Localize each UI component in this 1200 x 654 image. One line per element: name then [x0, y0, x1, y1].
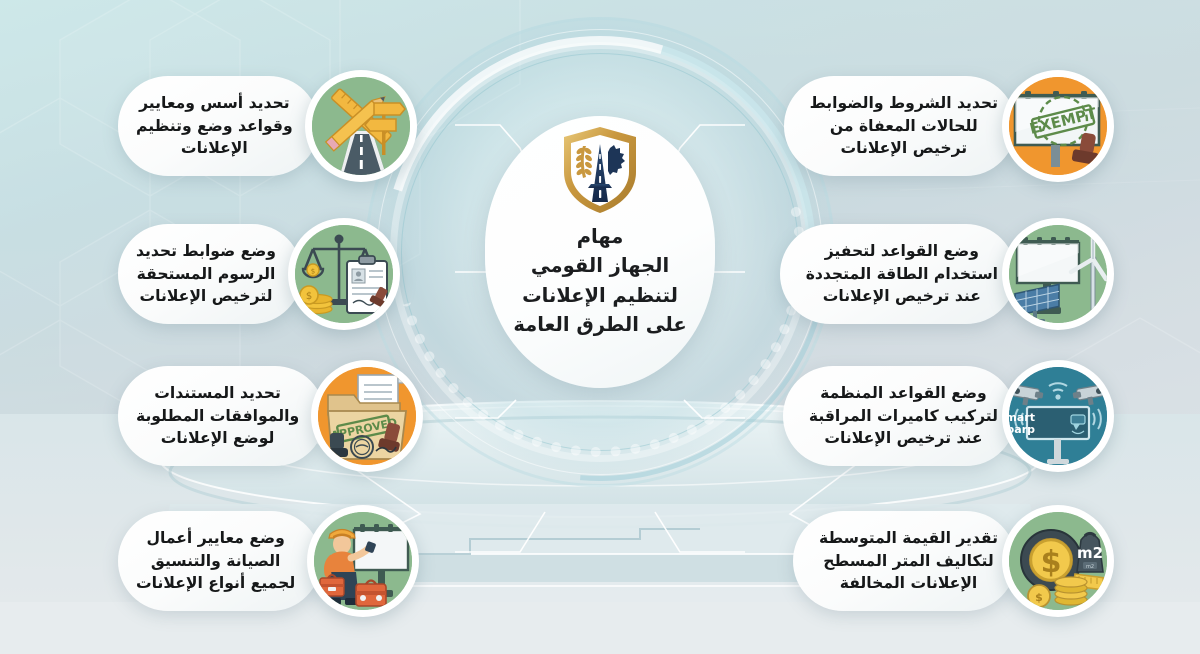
title-line-3: لتنظيم الإعلانات — [513, 281, 686, 310]
pencil-ruler-road-signpost-icon — [305, 70, 417, 182]
task-card-pill: وضع معايير أعمال الصيانة والتنسيق لجميع … — [118, 511, 321, 611]
svg-text:m2: m2 — [1086, 564, 1094, 570]
task-card-surveillance-cameras[interactable]: Smart billbarp — [783, 360, 1100, 472]
approved-folder-stamp-icon: APPROVED — [311, 360, 423, 472]
task-card-pill: تقدير القيمة المتوسطة لتكاليف المتر المس… — [793, 511, 1016, 611]
exempt-stamp-billboard-icon: EXEMPT — [1002, 70, 1114, 182]
task-card-text: وضع ضوابط تحديد الرسوم المستحقة لترخيص ا… — [136, 240, 276, 308]
task-card-pill: تحديد أسس ومعايير وقواعد وضع وتنظيم الإع… — [118, 76, 319, 176]
dollar-coins-tape-measure-weight-icon: $ m2 — [1002, 505, 1114, 617]
task-card-pill: وضع القواعد المنظمة لتركيب كاميرات المرا… — [783, 366, 1016, 466]
task-card-exemption-conditions[interactable]: EXEMPT تحديد الشروط والضوابط للحالات الم… — [784, 70, 1100, 182]
task-card-pill: تحديد المستندات والموافقات المطلوبة لوضع… — [118, 366, 325, 466]
task-card-violation-cost-estimate[interactable]: $ m2 — [793, 505, 1100, 617]
task-card-maintenance-standards[interactable]: وضع معايير أعمال الصيانة والتنسيق لجميع … — [118, 505, 419, 617]
smart-billboard-cctv-camera-icon: Smart billbarp — [1002, 360, 1114, 472]
task-card-pill: وضع ضوابط تحديد الرسوم المستحقة لترخيص ا… — [118, 224, 302, 324]
title-line-2: الجهاز القومي — [513, 251, 686, 280]
svg-text:$: $ — [1041, 545, 1062, 580]
task-card-text: تحديد أسس ومعايير وقواعد وضع وتنظيم الإع… — [136, 92, 293, 160]
scales-coins-document-icon: $ $ — [288, 218, 400, 330]
title-line-4: على الطرق العامة — [513, 310, 686, 339]
task-card-text: تحديد الشروط والضوابط للحالات المعفاة من… — [810, 92, 998, 160]
svg-text:$: $ — [1035, 591, 1043, 604]
title-line-1: مهام — [513, 222, 686, 251]
task-card-text: تقدير القيمة المتوسطة لتكاليف المتر المس… — [819, 527, 998, 595]
page-title: مهام الجهاز القومي لتنظيم الإعلانات على … — [503, 222, 696, 339]
svg-text:$: $ — [306, 291, 312, 302]
center-title-node: مهام الجهاز القومي لتنظيم الإعلانات على … — [485, 116, 715, 388]
svg-text:$: $ — [311, 268, 315, 276]
infographic-canvas: مهام الجهاز القومي لتنظيم الإعلانات على … — [0, 0, 1200, 654]
task-card-licensing-fees[interactable]: $ $ — [118, 218, 400, 330]
task-card-text: وضع معايير أعمال الصيانة والتنسيق لجميع … — [136, 527, 295, 595]
svg-text:billbarp: billbarp — [1009, 423, 1035, 436]
task-card-text: وضع القواعد لتحفيز استخدام الطاقة المتجد… — [806, 240, 998, 308]
worker-billboard-maintenance-icon — [307, 505, 419, 617]
task-card-text: وضع القواعد المنظمة لتركيب كاميرات المرا… — [809, 382, 998, 450]
task-card-pill: وضع القواعد لتحفيز استخدام الطاقة المتجد… — [780, 224, 1016, 324]
task-card-renewable-energy-incentives[interactable]: وضع القواعد لتحفيز استخدام الطاقة المتجد… — [780, 218, 1100, 330]
national-authority-shield-emblem — [558, 124, 642, 216]
task-card-text: تحديد المستندات والموافقات المطلوبة لوضع… — [136, 382, 299, 450]
task-card-standards-and-criteria[interactable]: تحديد أسس ومعايير وقواعد وضع وتنظيم الإع… — [118, 70, 417, 182]
svg-text:m2: m2 — [1077, 544, 1103, 562]
solar-panel-wind-turbine-billboard-icon — [1002, 218, 1114, 330]
task-card-pill: تحديد الشروط والضوابط للحالات المعفاة من… — [784, 76, 1016, 176]
task-card-required-documents[interactable]: APPROVED — [118, 360, 423, 472]
